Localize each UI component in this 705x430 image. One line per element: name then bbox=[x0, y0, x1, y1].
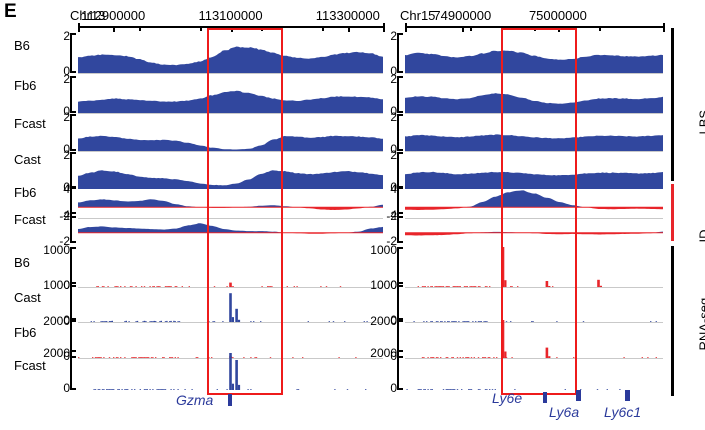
track-label-cast-7: Cast bbox=[14, 290, 41, 305]
tick-mark-minor bbox=[200, 26, 202, 31]
tick-mark-end bbox=[405, 23, 407, 32]
y-axis-max: 4 bbox=[63, 183, 70, 195]
tick-label: 74900000 bbox=[433, 8, 491, 23]
y-axis-max: 2000 bbox=[43, 347, 70, 359]
track-lbs-cast-panel1 bbox=[405, 152, 663, 189]
track-label-b6-6: B6 bbox=[14, 255, 30, 270]
track-rnaseq-b6-panel1 bbox=[405, 247, 663, 287]
y-axis-3: 20 bbox=[48, 152, 76, 189]
y-axis-max: 2 bbox=[63, 30, 70, 42]
highlight-edge-panel0-left bbox=[207, 186, 209, 243]
y-axis-max: 2 bbox=[390, 149, 397, 161]
track-rnaseq-cast-panel0 bbox=[78, 282, 383, 322]
y-axis-bracket bbox=[397, 152, 403, 189]
tick-mark-end bbox=[78, 23, 80, 32]
track-lbs-cast-panel0 bbox=[78, 152, 383, 189]
y-axis-bracket bbox=[397, 282, 403, 322]
track-id-fcast-panel0 bbox=[78, 212, 383, 243]
tick-mark bbox=[348, 26, 350, 32]
panel-letter: E bbox=[4, 2, 17, 21]
y-axis-bracket bbox=[397, 76, 403, 113]
track-rnaseq-b6-panel0 bbox=[78, 247, 383, 287]
track-rnaseq-fcast-panel1 bbox=[405, 350, 663, 390]
y-axis-max: 1000 bbox=[43, 244, 70, 256]
group-label-rnaseq: RNA-seq bbox=[674, 313, 705, 328]
gene-label-ly6c1: Ly6c1 bbox=[604, 404, 641, 420]
y-axis-max: 2 bbox=[63, 111, 70, 123]
track-separator bbox=[78, 73, 383, 74]
tick-labels-left: 112900000113100000113300000 bbox=[70, 8, 385, 24]
y-axis-2: 20 bbox=[48, 114, 76, 151]
gene-model-gzma[interactable] bbox=[228, 394, 232, 406]
track-label-fcast-9: Fcast bbox=[14, 358, 46, 373]
tick-labels-right: 7490000075000000 bbox=[400, 8, 665, 24]
tick-mark bbox=[462, 26, 464, 32]
track-lbs-fb6-panel0 bbox=[78, 76, 383, 113]
tick-label: 75000000 bbox=[529, 8, 587, 23]
tick-label: 112900000 bbox=[81, 8, 145, 23]
tick-mark-minor bbox=[322, 26, 324, 31]
y-axis-max: 2 bbox=[390, 73, 397, 85]
tick-mark bbox=[113, 26, 115, 32]
y-axis-bracket bbox=[70, 282, 76, 322]
gene-model-ly6a[interactable] bbox=[576, 390, 581, 401]
y-axis-max: 4 bbox=[390, 183, 397, 195]
ruler-right: Chr15 7490000075000000 bbox=[400, 6, 665, 36]
track-separator bbox=[405, 73, 663, 74]
y-axis-bracket bbox=[70, 114, 76, 151]
highlight-edge-panel0-right bbox=[281, 186, 283, 243]
gene-label-ly6a: Ly6a bbox=[549, 404, 579, 420]
y-axis-max: 2 bbox=[63, 149, 70, 161]
y-axis-bracket bbox=[397, 212, 403, 243]
y-axis-1: 20 bbox=[48, 76, 76, 113]
tick-mark bbox=[231, 26, 233, 32]
tick-mark-end bbox=[383, 23, 385, 32]
y-axis-bracket bbox=[397, 114, 403, 151]
gene-model-ly6c1[interactable] bbox=[625, 390, 630, 401]
track-lbs-b6-panel0 bbox=[78, 33, 383, 73]
y-axis-bracket bbox=[70, 350, 76, 390]
track-label-fcast-2: Fcast bbox=[14, 116, 46, 131]
group-label-text: LBS bbox=[697, 74, 705, 134]
y-axis-max: 4 bbox=[63, 209, 70, 221]
highlight-edge-panel1-right bbox=[575, 186, 577, 243]
y-axis-0: 20 bbox=[48, 33, 76, 73]
y-axis-max: 1000 bbox=[43, 279, 70, 291]
y-axis-bracket bbox=[397, 350, 403, 390]
gene-label-gzma: Gzma bbox=[176, 392, 213, 408]
y-axis-bracket bbox=[70, 152, 76, 189]
group-label-id: ID bbox=[674, 205, 705, 220]
track-label-fb6-8: Fb6 bbox=[14, 325, 36, 340]
y-axis-bracket bbox=[397, 33, 403, 73]
figure-panel-e: E Chr13 112900000113100000113300000 Chr1… bbox=[0, 0, 705, 430]
track-lbs-b6-panel1 bbox=[405, 33, 663, 73]
y-axis-max: 2 bbox=[63, 73, 70, 85]
highlight-edge-panel1-left bbox=[501, 186, 503, 243]
track-label-cast-3: Cast bbox=[14, 152, 41, 167]
y-axis-max: 4 bbox=[390, 209, 397, 221]
y-axis-min: 0 bbox=[390, 382, 397, 394]
group-label-lbs: LBS bbox=[674, 97, 705, 112]
gene-label-ly6e: Ly6e bbox=[492, 390, 522, 406]
y-axis-bracket bbox=[70, 247, 76, 287]
y-axis-max: 2 bbox=[390, 30, 397, 42]
y-axis-9: 20000 bbox=[48, 350, 76, 390]
tick-mark-minor bbox=[534, 26, 536, 31]
track-id-fcast-panel1 bbox=[405, 212, 663, 243]
track-lbs-fb6-panel1 bbox=[405, 76, 663, 113]
y-axis-bracket bbox=[397, 247, 403, 287]
track-rnaseq-fcast-panel0 bbox=[78, 350, 383, 390]
y-axis-bracket bbox=[70, 212, 76, 243]
tick-mark-minor bbox=[261, 26, 263, 31]
tick-label: 113100000 bbox=[198, 8, 262, 23]
track-lbs-fcast-panel0 bbox=[78, 114, 383, 151]
track-rnaseq-cast-panel1 bbox=[405, 282, 663, 322]
y-axis-bracket bbox=[70, 33, 76, 73]
tick-mark bbox=[558, 26, 560, 32]
y-axis-max: 2 bbox=[390, 111, 397, 123]
track-lbs-fcast-panel1 bbox=[405, 114, 663, 151]
tick-mark-minor bbox=[470, 26, 472, 31]
tick-mark-end bbox=[663, 23, 665, 32]
y-axis-min: 0 bbox=[63, 382, 70, 394]
y-axis-5: 4-2 bbox=[48, 212, 76, 243]
track-label-fb6-4: Fb6 bbox=[14, 185, 36, 200]
tick-mark-minor bbox=[599, 26, 601, 31]
y-axis-max: 2000 bbox=[43, 315, 70, 327]
group-label-text: RNA-seq bbox=[697, 291, 705, 351]
tick-mark-minor bbox=[139, 26, 141, 31]
y-axis-bracket bbox=[70, 76, 76, 113]
track-label-fb6-1: Fb6 bbox=[14, 78, 36, 93]
gene-model-ly6e[interactable] bbox=[543, 392, 547, 403]
group-label-text: ID bbox=[697, 182, 705, 242]
track-label-b6-0: B6 bbox=[14, 38, 30, 53]
track-label-fcast-5: Fcast bbox=[14, 212, 46, 227]
tick-label: 113300000 bbox=[316, 8, 380, 23]
ruler-left: Chr13 112900000113100000113300000 bbox=[70, 6, 385, 36]
